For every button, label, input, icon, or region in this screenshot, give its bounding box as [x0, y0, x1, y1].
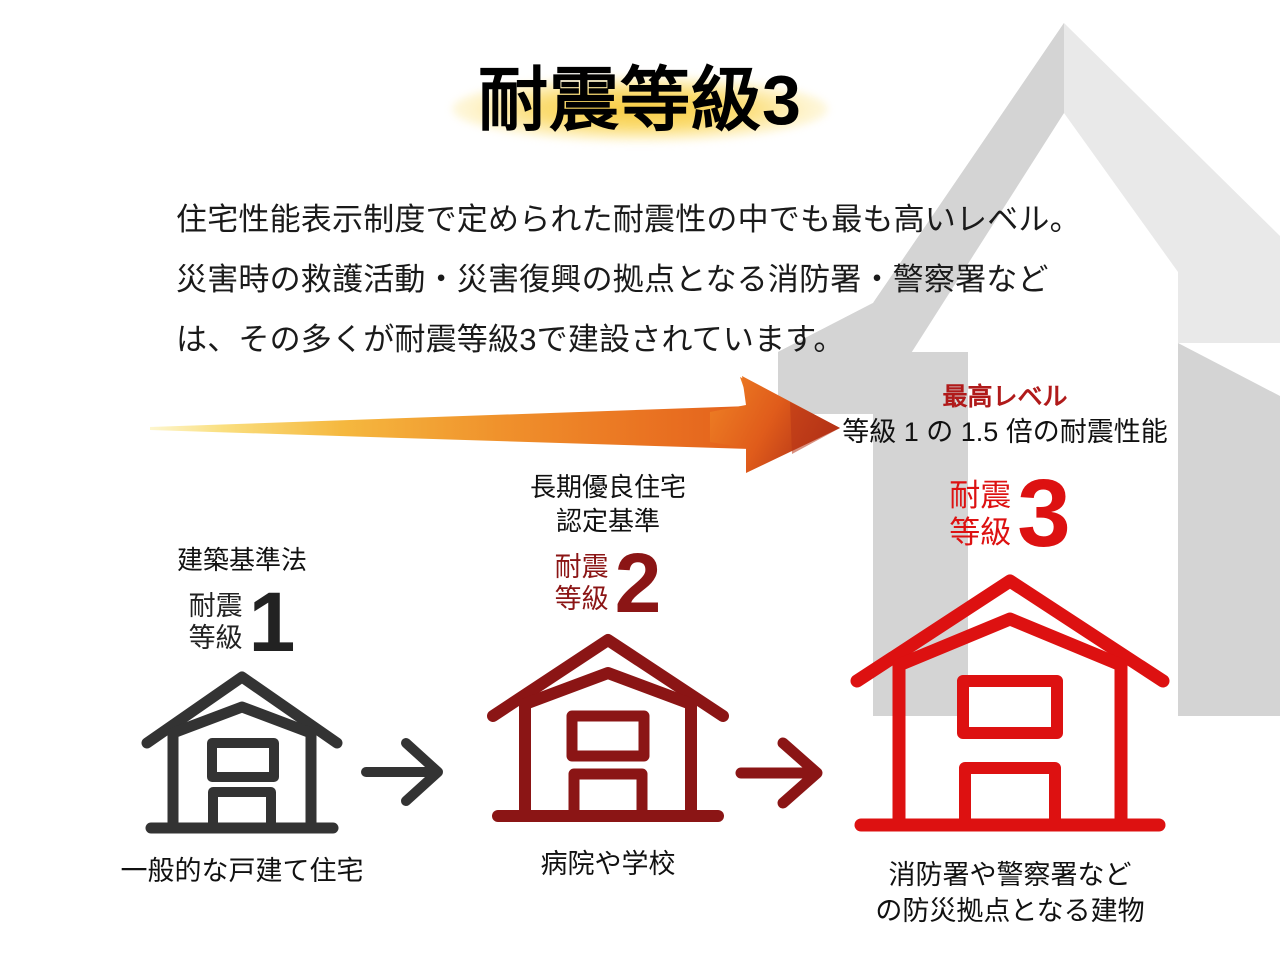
grade-column-3: 耐震 等級 3 消防署や警察署など の防災拠点となる建物 — [835, 463, 1185, 929]
house-outline-icon-3 — [845, 563, 1175, 853]
description-line-1: 住宅性能表示制度で定められた耐震性の中でも最も高いレベル。 — [176, 190, 1126, 250]
arrow-right-icon-2 — [735, 735, 830, 809]
callout-sub-label: 等級 1 の 1.5 倍の耐震性能 — [790, 413, 1220, 451]
grade-3-caption-line-1: 消防署や警察署など — [835, 857, 1185, 893]
grade-2-heading-line-1: 長期優良住宅 — [448, 470, 768, 504]
arrow-right-icon-1 — [360, 735, 450, 807]
grade-2-badge: 耐震 等級 2 — [448, 540, 768, 626]
grade-3-number: 3 — [1017, 465, 1070, 563]
grade-1-kanji-top: 耐震 — [189, 590, 243, 622]
grade-2-heading-line-2: 認定基準 — [448, 504, 768, 538]
page-title: 耐震等級3 — [0, 62, 1280, 139]
grade-1-heading: 建築基準法 — [92, 543, 392, 577]
description-line-2: 災害時の救護活動・災害復興の拠点となる消防署・警察署など — [176, 250, 1126, 310]
grade-2-caption: 病院や学校 — [448, 846, 768, 882]
grade-3-badge-kanji: 耐震 等級 — [949, 477, 1011, 551]
grade-1-number: 1 — [249, 579, 296, 665]
infographic-canvas: 耐震等級3 住宅性能表示制度で定められた耐震性の中でも最も高いレベル。 災害時の… — [0, 0, 1280, 966]
top-level-callout: 最高レベル 等級 1 の 1.5 倍の耐震性能 — [790, 381, 1220, 451]
description-paragraph: 住宅性能表示制度で定められた耐震性の中でも最も高いレベル。 災害時の救護活動・災… — [176, 190, 1126, 370]
progression-arrow-icon — [150, 372, 840, 477]
grade-3-kanji-bottom: 等級 — [949, 514, 1011, 551]
grade-2-number: 2 — [615, 540, 662, 626]
grade-3-caption-line-2: の防災拠点となる建物 — [835, 893, 1185, 929]
grade-column-1: 建築基準法 耐震 等級 1 一般的な戸建て住宅 — [92, 543, 392, 889]
grade-1-kanji-bottom: 等級 — [189, 622, 243, 654]
grade-3-badge: 耐震 等級 3 — [835, 465, 1185, 563]
callout-top-label: 最高レベル — [790, 381, 1220, 413]
grade-2-badge-kanji: 耐震 等級 — [555, 551, 609, 615]
grade-3-kanji-top: 耐震 — [949, 477, 1011, 514]
grade-1-badge: 耐震 等級 1 — [92, 579, 392, 665]
grade-1-caption: 一般的な戸建て住宅 — [92, 853, 392, 889]
grade-2-kanji-top: 耐震 — [555, 551, 609, 583]
title-text: 耐震等級3 — [478, 61, 802, 139]
grade-1-badge-kanji: 耐震 等級 — [189, 590, 243, 654]
house-outline-icon-2 — [483, 626, 733, 836]
description-line-3: は、その多くが耐震等級3で建設されています。 — [176, 310, 1126, 370]
grade-column-2: 長期優良住宅 認定基準 耐震 等級 2 病院や学校 — [448, 470, 768, 882]
house-outline-icon-1 — [137, 665, 347, 845]
grade-2-kanji-bottom: 等級 — [555, 583, 609, 615]
